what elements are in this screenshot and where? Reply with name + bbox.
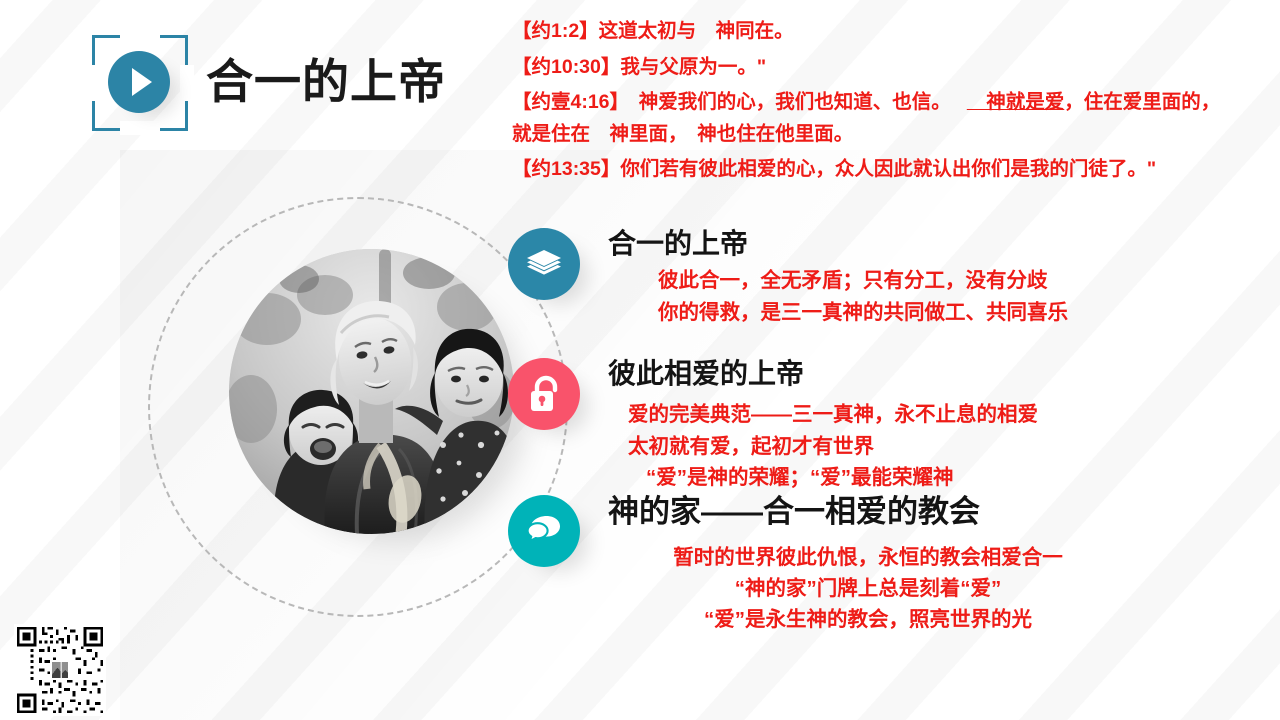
- content-section-3: 神的家——合一相爱的教会 暂时的世界彼此仇恨，永恒的教会相爱合一 “神的家”门牌…: [508, 495, 1128, 635]
- section-3-line-1: 暂时的世界彼此仇恨，永恒的教会相爱合一: [608, 542, 1128, 573]
- content-section-2: 彼此相爱的上帝 爱的完美典范——三一真神，永不止息的相爱 太初就有爱，起初才有世…: [508, 358, 1038, 493]
- section-3-line-3: “爱”是永生神的教会，照亮世界的光: [608, 604, 1128, 635]
- scripture-line-2: 【约10:30】我与父原为一。": [512, 52, 1232, 84]
- logo-mark: [88, 29, 192, 133]
- photo-circle: [229, 249, 514, 534]
- logo-bracket-gap-right: [180, 65, 194, 101]
- section-1-text: 合一的上帝 彼此合一，全无矛盾；只有分工，没有分歧 你的得救，是三一真神的共同做…: [608, 228, 1068, 328]
- section-2-text: 彼此相爱的上帝 爱的完美典范——三一真神，永不止息的相爱 太初就有爱，起初才有世…: [608, 358, 1038, 493]
- section-3-lines: 暂时的世界彼此仇恨，永恒的教会相爱合一 “神的家”门牌上总是刻着“爱” “爱”是…: [608, 542, 1128, 635]
- scripture-line-4: 【约13:35】你们若有彼此相爱的心，众人因此就认出你们是我的门徒了。": [512, 154, 1232, 186]
- unlock-icon: [508, 358, 580, 430]
- scripture-line-1: 【约1:2】这道太初与 神同在。: [512, 16, 1232, 48]
- content-section-1: 合一的上帝 彼此合一，全无矛盾；只有分工，没有分歧 你的得救，是三一真神的共同做…: [508, 228, 1068, 328]
- logo-bracket-gap-left: [88, 65, 100, 101]
- logo-bracket-gap-top: [120, 31, 160, 43]
- scripture-line-3-underlined: 神就是爱: [967, 91, 1065, 113]
- section-3-text: 神的家——合一相爱的教会 暂时的世界彼此仇恨，永恒的教会相爱合一 “神的家”门牌…: [608, 495, 1128, 635]
- section-2-line-3: “爱”是神的荣耀；“爱”最能荣耀神: [628, 462, 1038, 493]
- section-3-line-2: “神的家”门牌上总是刻着“爱”: [608, 573, 1128, 604]
- play-button-icon: [108, 51, 170, 113]
- section-2-lines: 爱的完美典范——三一真神，永不止息的相爱 太初就有爱，起初才有世界 “爱”是神的…: [628, 399, 1038, 492]
- section-1-line-2: 你的得救，是三一真神的共同做工、共同喜乐: [658, 297, 1068, 328]
- section-1-heading: 合一的上帝: [608, 228, 1068, 259]
- chat-bubbles-icon: [508, 495, 580, 567]
- section-1-line-1: 彼此合一，全无矛盾；只有分工，没有分歧: [658, 265, 1068, 296]
- slide-canvas: 合一的上帝 【约1:2】这道太初与 神同在。 【约10:30】我与父原为一。" …: [0, 0, 1280, 720]
- scripture-line-3-prefix: 【约壹4:16】 神爱我们的心，我们也知道、也信。: [512, 91, 951, 113]
- scripture-line-3: 【约壹4:16】 神爱我们的心，我们也知道、也信。 神就是爱，住在爱里面的，就是…: [512, 87, 1232, 150]
- qr-code-icon[interactable]: [14, 624, 106, 716]
- section-3-heading: 神的家——合一相爱的教会: [608, 495, 1128, 530]
- section-1-lines: 彼此合一，全无矛盾；只有分工，没有分歧 你的得救，是三一真神的共同做工、共同喜乐: [658, 265, 1068, 327]
- layers-icon: [508, 228, 580, 300]
- section-2-line-2: 太初就有爱，起初才有世界: [628, 431, 1038, 462]
- slide-header: 合一的上帝: [88, 25, 446, 137]
- section-2-heading: 彼此相爱的上帝: [608, 358, 1038, 389]
- scripture-block: 【约1:2】这道太初与 神同在。 【约10:30】我与父原为一。" 【约壹4:1…: [512, 16, 1232, 190]
- page-title: 合一的上帝: [206, 58, 446, 105]
- section-2-line-1: 爱的完美典范——三一真神，永不止息的相爱: [628, 399, 1038, 430]
- logo-bracket-gap-bottom: [120, 121, 160, 135]
